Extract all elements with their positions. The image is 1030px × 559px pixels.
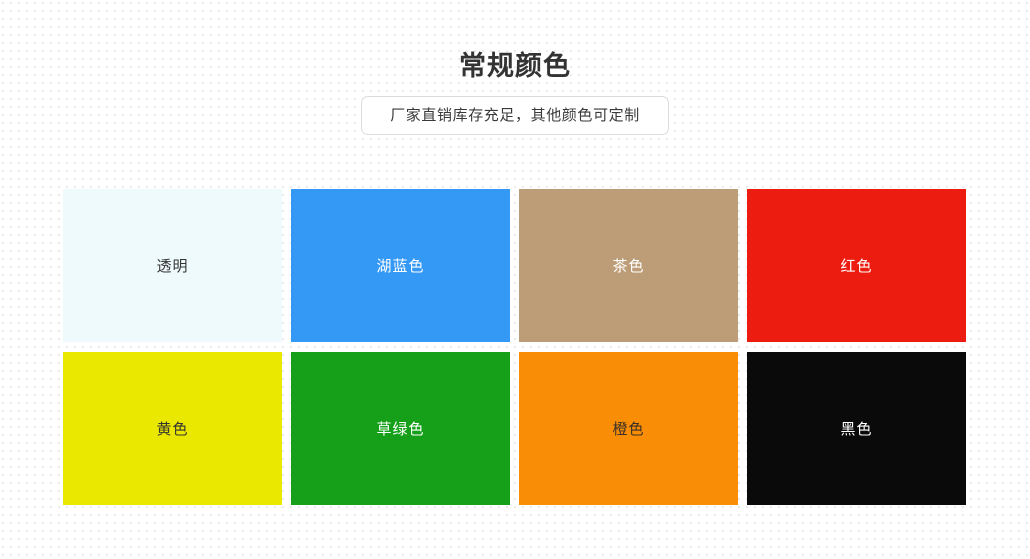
page-header: 常规颜色 厂家直销库存充足，其他颜色可定制 xyxy=(0,0,1030,135)
color-swatch-label: 红色 xyxy=(840,256,872,278)
color-swatch-label: 透明 xyxy=(156,256,188,278)
color-swatch-red[interactable]: 红色 xyxy=(747,189,966,342)
color-swatch-label: 橙色 xyxy=(612,419,644,441)
color-swatch-orange[interactable]: 橙色 xyxy=(519,352,738,505)
color-swatch-label: 湖蓝色 xyxy=(376,256,424,278)
color-swatch-label: 黄色 xyxy=(156,419,188,441)
color-swatch-grass-green[interactable]: 草绿色 xyxy=(291,352,510,505)
subtitle-badge: 厂家直销库存充足，其他颜色可定制 xyxy=(361,96,669,135)
color-swatch-transparent[interactable]: 透明 xyxy=(63,189,282,342)
color-swatch-black[interactable]: 黑色 xyxy=(747,352,966,505)
color-options-page: 常规颜色 厂家直销库存充足，其他颜色可定制 透明 湖蓝色 茶色 红色 黄色 草绿… xyxy=(0,0,1030,559)
color-swatch-yellow[interactable]: 黄色 xyxy=(63,352,282,505)
color-swatch-label: 草绿色 xyxy=(376,419,424,441)
color-swatch-label: 茶色 xyxy=(612,256,644,278)
subtitle-container: 厂家直销库存充足，其他颜色可定制 xyxy=(0,96,1030,135)
page-title: 常规颜色 xyxy=(0,0,1030,85)
color-swatch-lake-blue[interactable]: 湖蓝色 xyxy=(291,189,510,342)
color-swatch-tan[interactable]: 茶色 xyxy=(519,189,738,342)
color-swatch-label: 黑色 xyxy=(840,419,872,441)
color-swatch-grid: 透明 湖蓝色 茶色 红色 黄色 草绿色 橙色 黑色 xyxy=(63,189,967,505)
